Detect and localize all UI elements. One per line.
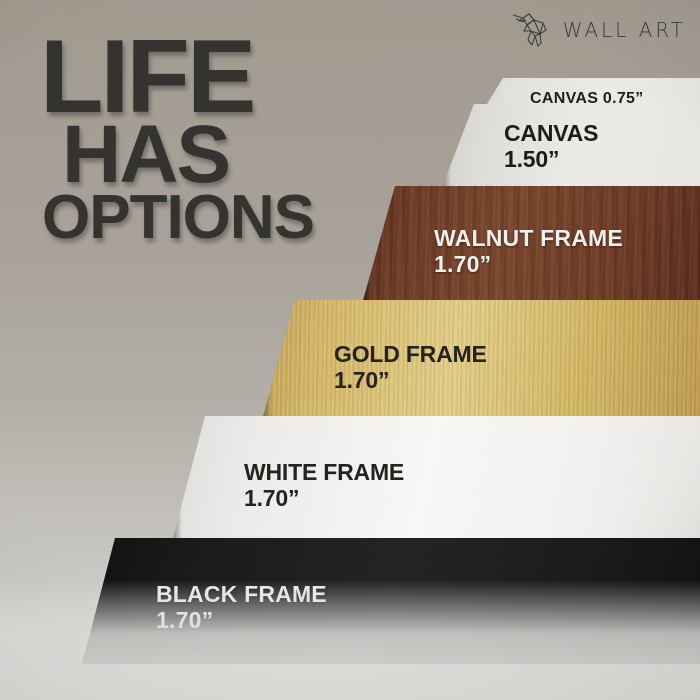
product-label-canvas-150: CANVAS 1.50” [504,121,598,173]
slab-edge-gold [262,300,272,420]
product-slab-gold-frame[interactable]: GOLD FRAME 1.70” [262,300,700,420]
product-slab-canvas-150[interactable]: CANVAS 1.50” [441,104,700,190]
slab-edge-walnut [362,186,372,304]
slab-edge-white [172,416,182,542]
product-slab-walnut-frame[interactable]: WALNUT FRAME 1.70” [362,186,700,304]
product-label-black-frame: BLACK FRAME 1.70” [156,582,327,634]
product-stack: CANVAS 0.75” CANVAS 1.50” WALNUT FRAME 1… [0,0,700,700]
product-slab-white-frame[interactable]: WHITE FRAME 1.70” [172,416,700,542]
product-slab-black-frame[interactable]: BLACK FRAME 1.70” [82,538,700,664]
product-label-walnut-frame: WALNUT FRAME 1.70” [434,226,623,278]
product-label-gold-frame: GOLD FRAME 1.70” [334,342,487,394]
slab-edge-canvas-150 [441,104,451,190]
product-options-poster: LIFE HAS OPTIONS WALL ART [0,0,700,700]
slab-edge-black [82,538,92,664]
product-label-white-frame: WHITE FRAME 1.70” [244,460,404,512]
